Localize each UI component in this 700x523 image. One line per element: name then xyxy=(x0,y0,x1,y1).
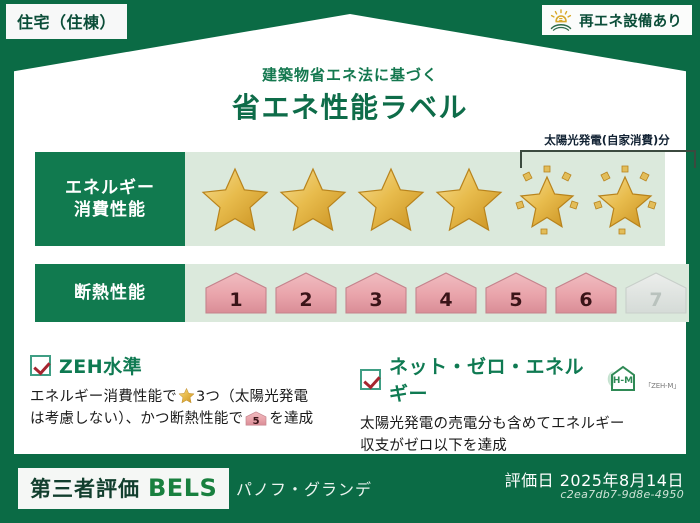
insulation-level-2-number: 2 xyxy=(273,289,339,311)
sun-renewable-icon xyxy=(548,9,574,31)
check-icon-nze xyxy=(360,369,381,390)
star-solar-5 xyxy=(511,163,583,235)
insulation-level-4: 4 xyxy=(413,270,479,316)
inline-house-badge-number: 5 xyxy=(245,417,267,427)
zeh-desc-part3: を達成 xyxy=(269,411,313,427)
label-footer: 第三者評価 BELS パノフ・グランデ 評価日 2025年8月14日 c2ea7… xyxy=(0,454,700,523)
energy-row-header: エネルギー 消費性能 xyxy=(35,152,185,246)
renewable-equipment-badge: 再エネ設備あり xyxy=(542,5,692,35)
zeh-m-logo-icon: H-M 「ZEH-M」 xyxy=(602,365,680,393)
feature-nze-header: ネット・ゼロ・エネルギー H-M 「ZEH-M」 xyxy=(360,352,680,406)
renewable-badge-label: 再エネ設備あり xyxy=(579,10,682,31)
nze-desc-line2: 収支がゼロ以下を達成 xyxy=(360,438,507,454)
insulation-level-6: 6 xyxy=(553,270,619,316)
feature-net-zero-energy: ネット・ゼロ・エネルギー H-M 「ZEH-M」 太陽光発電の売電分も含めてエネ… xyxy=(360,352,680,458)
insulation-level-7: 7 xyxy=(623,270,689,316)
feature-zeh-level: ZEH水準 エネルギー消費性能で 3つ（太陽光発電 は考慮しない）、かつ断熱性能… xyxy=(30,352,350,431)
insulation-level-4-number: 4 xyxy=(413,289,479,311)
bels-evaluation-box: 第三者評価 BELS xyxy=(18,468,229,509)
star-solar-6 xyxy=(589,163,661,235)
feature-nze-title: ネット・ゼロ・エネルギー xyxy=(389,352,593,406)
inline-house-badge-icon: 5 xyxy=(245,410,267,427)
solar-bracket-caption: 太陽光発電(自家消費)分 xyxy=(507,132,700,148)
check-icon-zeh xyxy=(30,355,51,376)
insulation-performance-row: 断熱性能 1 2 xyxy=(35,264,665,322)
property-name: パノフ・グランデ xyxy=(236,476,372,500)
bels-en-label: BELS xyxy=(148,474,217,502)
label-title: 省エネ性能ラベル xyxy=(0,86,700,126)
insulation-level-1: 1 xyxy=(203,270,269,316)
insulation-level-7-number: 7 xyxy=(623,289,689,311)
energy-header-line2: 消費性能 xyxy=(74,200,146,220)
insulation-level-5-number: 5 xyxy=(483,289,549,311)
insulation-level-2: 2 xyxy=(273,270,339,316)
star-filled-4 xyxy=(433,163,505,235)
bels-jp-label: 第三者評価 xyxy=(30,473,140,503)
insulation-level-3: 3 xyxy=(343,270,409,316)
label-subtitle: 建築物省エネ法に基づく xyxy=(0,64,700,85)
star-filled-3 xyxy=(355,163,427,235)
insulation-row-body: 1 2 3 4 5 xyxy=(185,264,689,322)
zeh-desc-star-count: 3つ（太陽光発電 xyxy=(196,389,308,405)
star-filled-2 xyxy=(277,163,349,235)
nze-desc-line1: 太陽光発電の売電分も含めてエネルギー xyxy=(360,416,625,432)
star-rating-group xyxy=(185,163,665,235)
evaluation-id: c2ea7db7-9d8e-4950 xyxy=(560,488,684,501)
insulation-level-6-number: 6 xyxy=(553,289,619,311)
feature-nze-description: 太陽光発電の売電分も含めてエネルギー 収支がゼロ以下を達成 xyxy=(360,413,680,458)
energy-header-line1: エネルギー xyxy=(65,178,155,198)
insulation-level-group: 1 2 3 4 5 xyxy=(185,270,689,316)
zeh-desc-part1: エネルギー消費性能で xyxy=(30,389,177,405)
zeh-m-logo-caption: 「ZEH-M」 xyxy=(644,381,680,393)
svg-text:H-M: H-M xyxy=(613,376,633,386)
insulation-level-5: 5 xyxy=(483,270,549,316)
feature-zeh-header: ZEH水準 xyxy=(30,352,350,379)
energy-performance-label: 住宅（住棟） 再エネ設備あり 建築物省エネ法に基づく 省エネ性能ラベル xyxy=(0,0,700,523)
energy-row-body: 太陽光発電(自家消費)分 xyxy=(185,152,665,246)
feature-zeh-description: エネルギー消費性能で 3つ（太陽光発電 は考慮しない）、かつ断熱性能で 5 を達… xyxy=(30,386,350,431)
feature-zeh-title: ZEH水準 xyxy=(59,352,142,379)
dwelling-type-tag: 住宅（住棟） xyxy=(6,4,127,39)
energy-performance-row: エネルギー 消費性能 太陽光発電(自家消費)分 xyxy=(35,152,665,246)
insulation-level-1-number: 1 xyxy=(203,289,269,311)
insulation-level-3-number: 3 xyxy=(343,289,409,311)
star-filled-1 xyxy=(199,163,271,235)
insulation-row-header: 断熱性能 xyxy=(35,264,185,322)
inline-star-icon xyxy=(178,387,195,404)
zeh-desc-part2: は考慮しない）、かつ断熱性能で xyxy=(30,411,243,427)
